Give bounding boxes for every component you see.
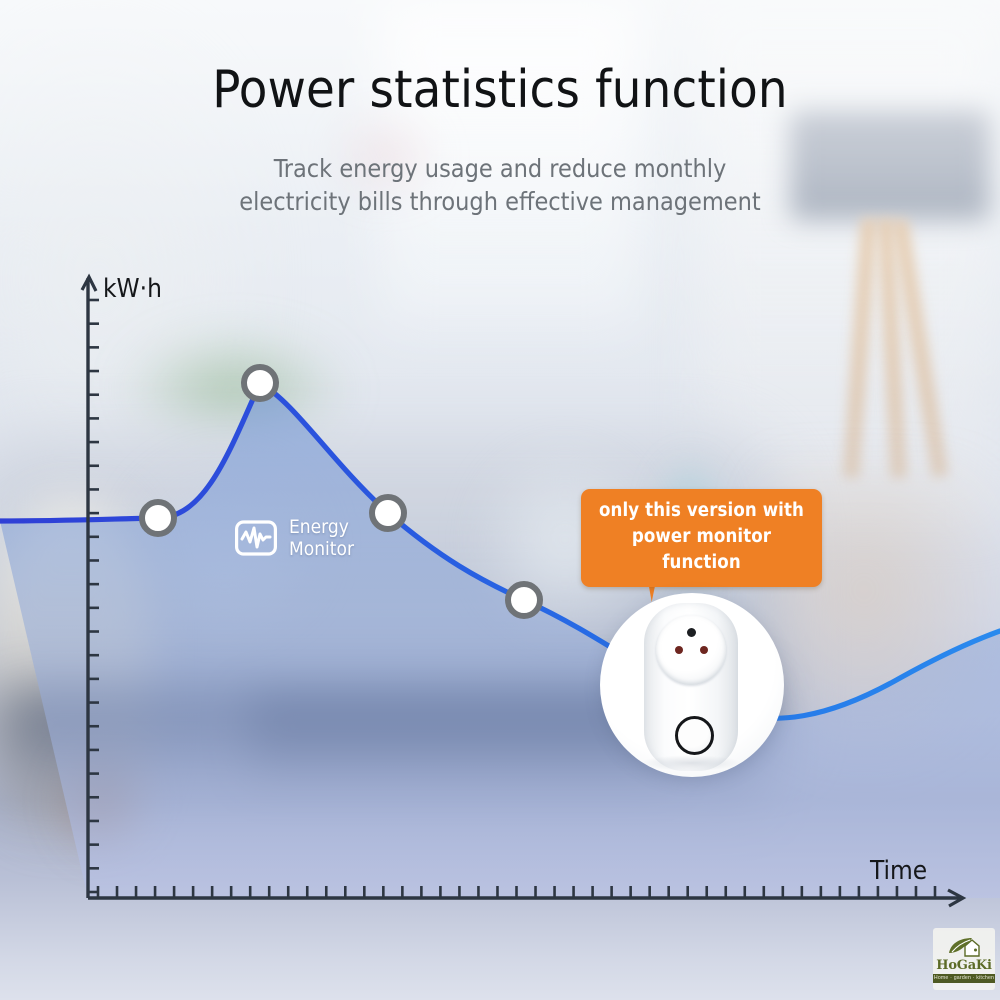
smart-plug-body (644, 603, 738, 771)
smart-plug-power-button[interactable] (675, 716, 714, 755)
house-leaf-icon (946, 936, 982, 958)
callout-line-1: only this version with (591, 498, 812, 524)
product-callout: only this version with power monitor fun… (581, 489, 822, 587)
chart-area-fill (0, 383, 1000, 898)
smart-plug-socket (656, 615, 726, 685)
socket-hole-top (687, 628, 696, 637)
energy-monitor-label: Energy Monitor (289, 516, 354, 560)
data-point-dot (376, 501, 401, 526)
product-highlight-circle (600, 593, 784, 777)
x-axis-label: Time (870, 856, 927, 886)
chart-data-point (508, 584, 540, 616)
data-point-dot (146, 506, 171, 531)
watermark-tagline: Home · garden · kitchen (933, 974, 995, 983)
data-point-dot (512, 588, 537, 613)
callout-line-2: power monitor function (591, 524, 812, 576)
chart-data-point (142, 502, 174, 534)
y-axis-label: kW·h (103, 274, 162, 304)
energy-monitor-badge: Energy Monitor (234, 516, 354, 560)
data-point-dot (248, 371, 273, 396)
poster-canvas: Power statistics function Track energy u… (0, 0, 1000, 1000)
chart-data-point (244, 367, 276, 399)
chart-data-point (372, 497, 404, 529)
watermark-name: HoGaKi (936, 959, 992, 972)
energy-usage-chart (0, 0, 1000, 1000)
energy-monitor-line-2: Monitor (289, 538, 354, 560)
energy-monitor-waveform-icon (234, 516, 278, 560)
smart-plug-shadow (640, 755, 742, 771)
socket-hole-left (675, 646, 683, 654)
socket-hole-right (700, 646, 708, 654)
watermark-logo: HoGaKi Home · garden · kitchen (933, 928, 995, 990)
energy-monitor-line-1: Energy (289, 516, 354, 538)
